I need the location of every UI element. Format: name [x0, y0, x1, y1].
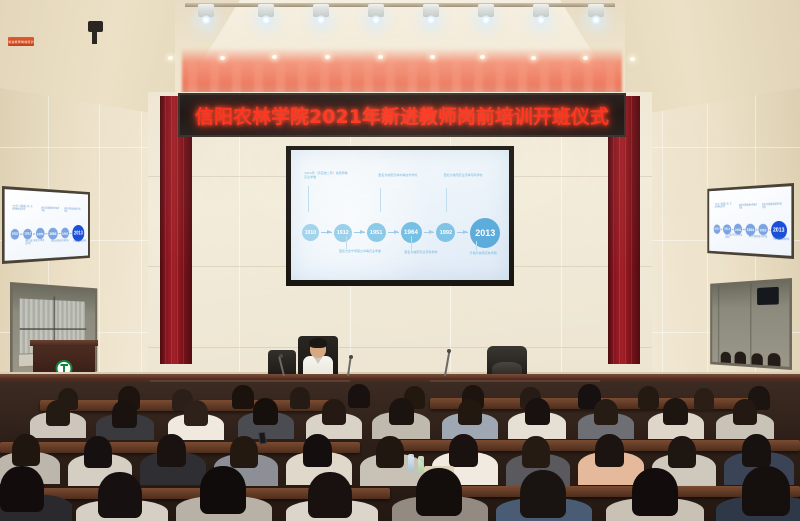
downlight [272, 55, 277, 59]
left-wall-monitor: 191019121951196419922013 1910年（清宣统二年）信阳甲… [2, 186, 90, 264]
audience-head [742, 466, 790, 516]
audience-head [522, 436, 550, 468]
downlight [531, 56, 536, 60]
audience-head [348, 384, 370, 408]
audience-head [184, 400, 208, 426]
audience-head [694, 388, 714, 410]
right-wall-window [710, 278, 792, 370]
timeline-label-top-2: 更名为信阳农林中等技术学校 [378, 173, 424, 177]
right-wall-monitor: 191019121951196419922013 1910年（清宣统二年）信阳甲… [707, 183, 794, 259]
timeline-node-1910: 1910 [302, 224, 319, 241]
timeline-label-bottom-3: 升格为信阳农林学院 [470, 251, 509, 255]
audience-head [84, 436, 112, 468]
monitor-label: 更名为汝宁府官立中等农业学堂 [25, 240, 45, 246]
name-plate: 新进教师岗前培训 [8, 37, 34, 46]
microphone-head [349, 355, 353, 359]
timeline-arrow [354, 232, 365, 233]
timeline-label-top-3: 更名为信阳农业高等专科学校 [444, 173, 490, 177]
monitor-timeline-node-1912: 1912 [23, 229, 32, 240]
auditorium-photo: 信阳农林学院2021年新进教师岗前培训开班仪式 1910年（清宣统二年）信阳甲种… [0, 0, 800, 521]
microphone-head [447, 349, 451, 353]
downlight [168, 56, 173, 60]
audience-head [449, 434, 478, 467]
monitor-label: 更名为汝宁府官立中等农业学堂 [725, 235, 743, 241]
downlight [480, 55, 485, 59]
audience-head [389, 398, 414, 425]
timeline-arrow [388, 232, 399, 233]
monitor-timeline-connector [756, 229, 758, 230]
audience-head [520, 470, 566, 518]
audience-head [112, 400, 137, 428]
audience-head [458, 399, 482, 425]
track-light-bulb [370, 14, 382, 26]
audience-head [742, 434, 771, 467]
timeline-node-1912: 1912 [334, 224, 352, 242]
timeline-node-1992: 1992 [436, 223, 455, 242]
audience-head [230, 436, 258, 468]
security-camera-icon [88, 21, 103, 32]
led-banner: 信阳农林学院2021年新进教师岗前培训开班仪式 [178, 93, 626, 137]
monitor-timeline-node-1951: 1951 [36, 228, 45, 239]
audience-head [668, 436, 696, 468]
timeline-label-bottom-2: 更名为信阳农业专科学校 [404, 250, 450, 254]
audience-head [525, 398, 550, 425]
wall-mounted-tv [757, 287, 779, 305]
audience-head [253, 398, 278, 425]
audience-head [376, 436, 404, 468]
window-audience-head [735, 351, 746, 364]
glasses-icon [311, 346, 325, 349]
timeline-arrow [321, 232, 332, 233]
audience-head [303, 434, 332, 467]
smartphone [258, 432, 267, 445]
downlight [378, 55, 383, 59]
timeline-arrow [457, 232, 468, 233]
projection-screen: 1910年（清宣统二年）信阳甲种农业学堂 更名为信阳农林中等技术学校 更名为信阳… [286, 146, 514, 286]
timeline-arrow [424, 232, 435, 233]
right-window-view [712, 281, 789, 367]
left-monitor-screen: 191019121951196419922013 1910年（清宣统二年）信阳甲… [5, 189, 88, 261]
timeline-node-1951: 1951 [367, 223, 386, 242]
table-edge [0, 374, 800, 378]
monitor-label: 升格为信阳农林学院 [73, 240, 88, 243]
audience-head [200, 466, 246, 514]
monitor-timeline-node-2013: 2013 [771, 221, 787, 239]
lighting-track [185, 3, 615, 7]
monitor-timeline-node-1912: 1912 [723, 224, 731, 234]
audience-area [0, 382, 800, 521]
projection-screen-surface: 1910年（清宣统二年）信阳甲种农业学堂 更名为信阳农林中等技术学校 更名为信阳… [291, 150, 509, 280]
audience-head [12, 434, 40, 466]
window-audience-head [751, 353, 762, 365]
audience-head [322, 399, 346, 425]
right-monitor-screen: 191019121951196419922013 1910年（清宣统二年）信阳甲… [709, 186, 791, 256]
track-light-bulb [480, 14, 492, 26]
audience-head [594, 399, 618, 425]
downlight [220, 56, 225, 60]
audience-head [733, 399, 757, 425]
timeline-label-bottom-1: 更名为汝宁府官立中等农业学堂 [339, 249, 385, 253]
monitor-timeline-connector [768, 229, 770, 230]
audience-head [632, 468, 678, 516]
audience-head [46, 400, 70, 426]
monitor-timeline-connector [45, 233, 47, 234]
monitor-timeline-node-1910: 1910 [10, 229, 19, 239]
track-light-bulb [590, 14, 602, 26]
monitor-timeline-connector [20, 233, 22, 234]
audience-head [98, 472, 142, 518]
audience-head [308, 472, 352, 518]
timeline-node-2013: 2013 [470, 218, 500, 248]
monitor-label: 升格为信阳农林学院 [773, 238, 792, 242]
water-bottle [408, 454, 414, 471]
window-audience-head [767, 353, 780, 366]
monitor-label: 1910年（清宣统二年）信阳甲种农业学堂 [715, 204, 733, 210]
monitor-timeline-node-1964: 1964 [745, 224, 755, 236]
microphone-head [279, 354, 283, 358]
audience-head [232, 385, 254, 409]
track-light-bulb [260, 14, 272, 26]
monitor-timeline-connector [33, 233, 35, 234]
monitor-timeline-connector [732, 229, 734, 230]
audience-head [595, 434, 624, 467]
audience-head [663, 398, 688, 425]
timeline-label-top-1: 1910年（清宣统二年）信阳甲种农业学堂 [304, 171, 350, 179]
track-light-bulb [315, 14, 327, 26]
monitor-label: 更名为信阳农林中等技术学校 [41, 208, 60, 214]
downlight [583, 56, 588, 60]
monitor-timeline-node-1992: 1992 [758, 224, 767, 235]
monitor-timeline-connector [70, 233, 72, 234]
audience-head [638, 386, 659, 409]
podium-top [30, 340, 98, 346]
window-audience-head [721, 352, 731, 363]
red-ceiling-valance [182, 48, 622, 96]
monitor-label: 更名为信阳农业高等专科学校 [762, 203, 783, 209]
audience-head [0, 466, 44, 512]
timeline-node-row: 191019121951196419922013 [302, 218, 500, 248]
monitor-timeline-node-1992: 1992 [61, 228, 69, 239]
track-light-bulb [200, 14, 212, 26]
downlight [630, 57, 635, 61]
monitor-timeline-node-2013: 2013 [72, 225, 84, 241]
monitor-label: 更名为信阳农林中等技术学校 [739, 204, 758, 210]
track-light-bulb [425, 14, 437, 26]
monitor-timeline-node-1910: 1910 [713, 224, 720, 233]
monitor-timeline-connector [58, 233, 60, 234]
monitor-timeline-node-1951: 1951 [734, 224, 742, 235]
led-banner-text: 信阳农林学院2021年新进教师岗前培训开班仪式 [195, 102, 609, 129]
timeline-slide: 1910年（清宣统二年）信阳甲种农业学堂 更名为信阳农林中等技术学校 更名为信阳… [291, 150, 509, 280]
downlight [430, 55, 435, 59]
monitor-label: 更名为信阳农业专科学校 [749, 236, 769, 239]
monitor-label: 1910年（清宣统二年）信阳甲种农业学堂 [12, 205, 33, 211]
monitor-label: 更名为信阳农业专科学校 [51, 240, 69, 243]
track-light-bulb [535, 14, 547, 26]
name-plate-text: 新进教师岗前培训 [8, 40, 34, 44]
monitor-label: 更名为信阳农业高等专科学校 [64, 208, 82, 214]
audience-head [290, 387, 310, 409]
monitor-timeline-node-1964: 1964 [48, 228, 58, 240]
audience-head [416, 468, 462, 516]
monitor-timeline-connector [743, 229, 745, 230]
downlight [325, 55, 330, 59]
audience-head [157, 434, 186, 467]
